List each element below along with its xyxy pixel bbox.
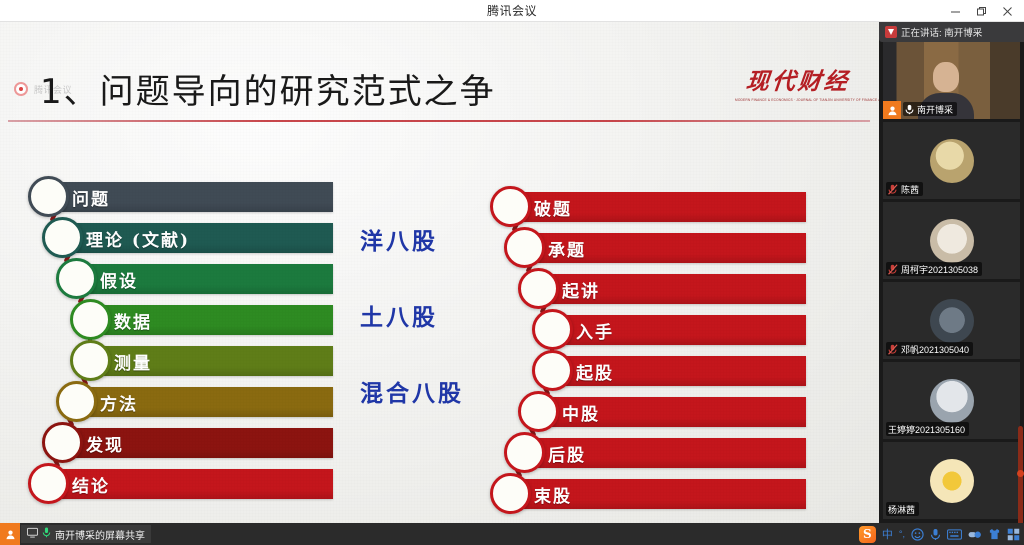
flow-step-bar: 破题 [508,192,806,222]
flow-step-bar: 承题 [522,233,806,263]
soft-keyboard-icon[interactable] [947,529,962,540]
flow-step-node [504,432,545,473]
flow-step: 后股 [488,433,818,474]
journal-logo-name: 现代财经 [734,68,863,96]
avatar [930,459,974,503]
participant-name: 王婷婷2021305160 [888,423,965,436]
journal-logo: 现代财经 MODERN FINANCE & ECONOMICS · JOURNA… [735,68,861,118]
flow-step: 入手 [488,310,818,351]
flow-step-bar: 假设 [74,264,333,294]
title-divider [8,120,870,122]
tencent-meeting-window: 腾讯会议 腾讯会议 1 [0,0,1024,545]
flow-step-node [70,299,111,340]
flow-step-node [518,391,559,432]
flow-step: 破题 [488,187,818,228]
journal-logo-subtitle: MODERN FINANCE & ECONOMICS · JOURNAL OF … [735,98,861,103]
flow-step-bar: 束股 [508,479,806,509]
center-label: 洋八股 [360,222,490,256]
taskbar-left: 南开博采的屏幕共享 [0,523,151,545]
toolbox-icon[interactable] [1007,528,1020,541]
participant-nametag: 邓帆2021305040 [886,342,973,356]
ime-toolbar: S 中 °, [859,523,1020,545]
flow-step-bar: 测量 [88,346,333,376]
flow-step-node [532,309,573,350]
center-label: 混合八股 [360,374,490,408]
participant-tile[interactable]: 陈茜 [883,122,1020,199]
screen-share-label: 南开博采的屏幕共享 [55,527,145,542]
microphone-muted-icon [888,264,898,275]
flow-step-node [504,227,545,268]
flow-step-node [518,268,559,309]
flow-step: 起讲 [488,269,818,310]
flow-step-node [56,381,97,422]
participant-nametag: 周柯宇2021305038 [886,262,982,276]
shared-screen-stage[interactable]: 腾讯会议 1、问题导向的研究范式之争 现代财经 MODERN FINANCE &… [0,22,879,523]
participant-name: 周柯宇2021305038 [901,263,978,276]
participant-nametag: 陈茜 [886,182,923,196]
flow-step: 测量 [18,341,348,382]
presentation-slide: 腾讯会议 1、问题导向的研究范式之争 现代财经 MODERN FINANCE &… [0,22,879,523]
left-flow-list: 问题理论 (文献)假设数据测量方法发现结论 [18,177,348,505]
flow-step: 发现 [18,423,348,464]
flow-step-node [56,258,97,299]
participant-nametag: 南开博采 [903,102,957,116]
voice-input-icon[interactable] [930,528,941,541]
avatar [930,139,974,183]
flow-step-node [28,463,69,504]
sogou-logo-icon[interactable]: S [859,526,876,543]
flow-step: 承题 [488,228,818,269]
window-title: 腾讯会议 [487,2,537,19]
flow-step-bar: 问题 [46,182,333,212]
flow-step: 束股 [488,474,818,515]
flow-step-node [490,186,531,227]
window-titlebar: 腾讯会议 [0,0,1024,22]
user-badge-icon [0,523,20,545]
flow-step-node [42,422,83,463]
flow-step-bar: 数据 [88,305,333,335]
flow-step-bar: 结论 [46,469,333,499]
center-label-group: 洋八股土八股混合八股 [360,222,490,450]
participant-name: 杨淋茜 [888,503,915,516]
participant-tile[interactable]: 邓帆2021305040 [883,282,1020,359]
microphone-muted-icon [888,344,898,355]
flow-step: 理论 (文献) [18,218,348,259]
restore-icon[interactable] [968,0,994,22]
flow-step: 问题 [18,177,348,218]
microphone-muted-icon [888,184,898,195]
panel-scrollbar[interactable] [1018,426,1023,523]
flow-step: 方法 [18,382,348,423]
flow-step: 结论 [18,464,348,505]
speaking-banner: 正在讲话: 南开博采 [879,22,1024,42]
close-icon[interactable] [994,0,1020,22]
speaking-banner-label: 正在讲话: 南开博采 [901,25,982,39]
participant-tile[interactable]: 南开博采 [883,42,1020,119]
punctuation-mode-icon[interactable]: °, [899,529,905,539]
minimize-icon[interactable] [942,0,968,22]
host-badge-icon [883,101,901,119]
recording-dot-icon [14,82,28,96]
avatar [930,219,974,263]
flow-step: 数据 [18,300,348,341]
participant-tile[interactable]: 杨淋茜 [883,442,1020,519]
right-flow-list: 破题承题起讲入手起股中股后股束股 [488,187,818,515]
slide-title: 1、问题导向的研究范式之争 [40,64,496,113]
participants-panel: 正在讲话: 南开博采 南开博采陈茜周柯宇2021305038邓帆20213050… [879,22,1024,523]
slide-header: 腾讯会议 1、问题导向的研究范式之争 现代财经 MODERN FINANCE &… [0,22,879,104]
flow-step-node [532,350,573,391]
emoji-icon[interactable] [911,528,924,541]
participant-name: 邓帆2021305040 [901,343,969,356]
meeting-app-icon [885,26,897,38]
participant-name: 陈茜 [901,183,919,196]
flow-step-bar: 理论 (文献) [60,223,333,253]
participant-name: 南开博采 [917,103,953,116]
participant-tiles: 南开博采陈茜周柯宇2021305038邓帆2021305040王婷婷202130… [879,42,1024,523]
flow-step-bar: 入手 [550,315,806,345]
flow-step-bar: 后股 [522,438,806,468]
microphone-icon [905,104,914,115]
participant-nametag: 王婷婷2021305160 [886,422,969,436]
participant-tile[interactable]: 周柯宇2021305038 [883,202,1020,279]
participant-tile[interactable]: 王婷婷2021305160 [883,362,1020,439]
chinese-mode-icon[interactable]: 中 [882,526,893,542]
pinyin-toggle-icon[interactable] [968,529,982,540]
screen-share-indicator[interactable]: 南开博采的屏幕共享 [21,525,151,543]
avatar [930,379,974,423]
flow-step-node [28,176,69,217]
flow-step-node [490,473,531,514]
center-label: 土八股 [360,298,490,332]
flow-step-node [70,340,111,381]
flow-step-bar: 起讲 [536,274,806,304]
screen-share-icon [27,525,38,543]
taskbar: 南开博采的屏幕共享 S 中 °, [0,523,1024,545]
flow-step-bar: 中股 [536,397,806,427]
window-controls [942,0,1020,22]
flow-step-bar: 发现 [60,428,333,458]
flow-step: 中股 [488,392,818,433]
flow-step-node [42,217,83,258]
flow-step: 假设 [18,259,348,300]
avatar [930,299,974,343]
skin-icon[interactable] [988,528,1001,540]
flow-step-bar: 方法 [74,387,333,417]
microphone-icon [42,525,51,543]
flow-step: 起股 [488,351,818,392]
flow-step-bar: 起股 [550,356,806,386]
participant-nametag: 杨淋茜 [886,502,919,516]
